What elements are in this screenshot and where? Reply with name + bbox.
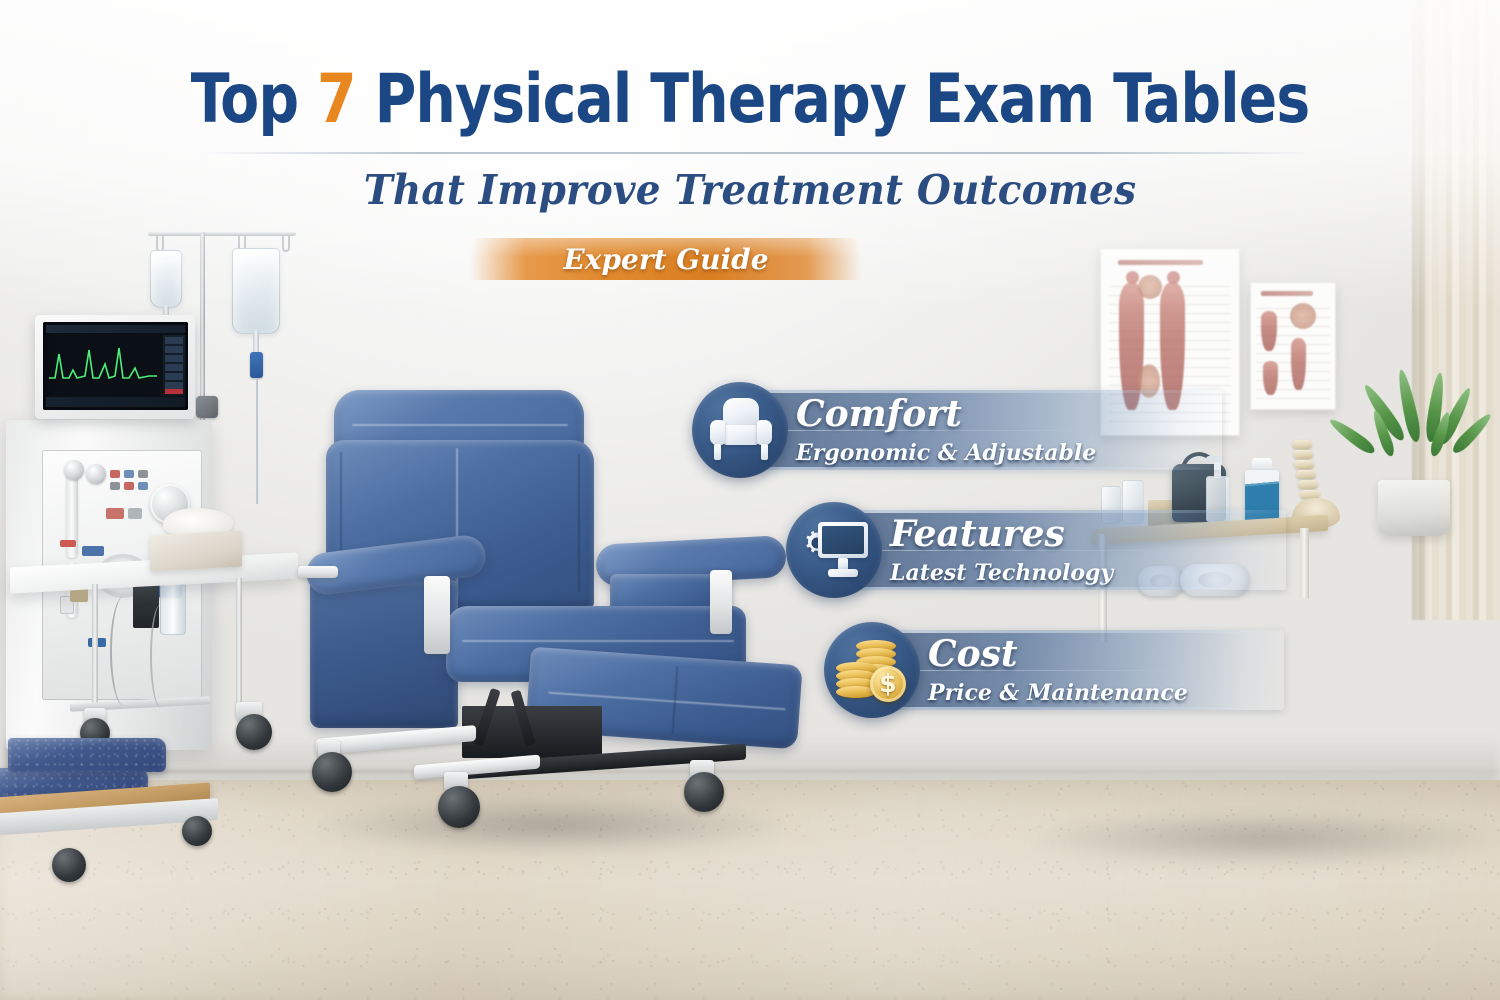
vertebra xyxy=(1294,460,1314,469)
dollar-sign: $ xyxy=(870,668,906,700)
panel-button[interactable] xyxy=(124,470,134,478)
feature-badge-features[interactable]: Features Latest Technology xyxy=(786,502,1346,598)
power-cable xyxy=(110,596,138,706)
armchair-back xyxy=(723,398,759,428)
tissue-box xyxy=(150,531,242,572)
panel-button[interactable] xyxy=(106,508,124,519)
badge-title: Comfort xyxy=(796,396,962,432)
caster-wheel xyxy=(684,772,724,812)
caster-wheel xyxy=(236,714,272,750)
caster-wheel xyxy=(52,848,86,882)
adjust-dial[interactable] xyxy=(64,460,84,480)
chair-arm-frame-right xyxy=(710,570,732,634)
title-prefix: Top xyxy=(191,60,298,139)
expert-guide-label: Expert Guide xyxy=(470,243,862,276)
feature-badge-cost[interactable]: $ Cost Price & Maintenance xyxy=(824,622,1384,718)
vertebra xyxy=(1296,470,1316,479)
caster-wheel xyxy=(438,786,480,828)
folded-blanket xyxy=(8,738,166,772)
panel-button[interactable] xyxy=(124,482,134,490)
panel-button[interactable] xyxy=(128,508,142,519)
caster-wheel xyxy=(312,752,352,792)
vitals-screen[interactable] xyxy=(43,322,188,410)
figure-detail xyxy=(1263,361,1278,395)
panel-button[interactable] xyxy=(138,482,148,490)
headrest-seam xyxy=(352,424,568,426)
coins-dollar-icon: $ xyxy=(836,640,908,702)
panel-button[interactable] xyxy=(110,470,120,478)
backrest-edge-seam xyxy=(578,454,580,592)
monitor-stand xyxy=(828,569,858,577)
caster-wheel xyxy=(182,816,212,846)
armchair-arm-left xyxy=(710,420,725,445)
power-cable xyxy=(150,604,172,708)
adjust-dial[interactable] xyxy=(86,464,106,484)
feature-badge-comfort[interactable]: Comfort Ergonomic & Adjustable xyxy=(692,382,1252,478)
armchair-leg xyxy=(761,444,768,460)
gear-monitor-icon xyxy=(802,520,868,582)
infographic-canvas: Top 7 Physical Therapy Exam Tables That … xyxy=(0,0,1500,1000)
ecg-waveform xyxy=(49,338,157,396)
cart-leg xyxy=(92,584,98,706)
cart-leg xyxy=(236,578,242,706)
armchair-icon xyxy=(710,398,772,462)
vertebra xyxy=(1293,450,1313,459)
badge-title: Cost xyxy=(928,636,1018,672)
badge-subtitle: Price & Maintenance xyxy=(928,682,1188,704)
vertebra xyxy=(1298,480,1318,489)
iv-tubing xyxy=(256,378,258,504)
panel-button[interactable] xyxy=(110,482,120,490)
screen-footer-bar xyxy=(46,397,185,407)
screen-side-panel xyxy=(163,335,185,396)
figure-anterior xyxy=(1261,311,1277,351)
title-rest: Physical Therapy Exam Tables xyxy=(375,60,1310,139)
armchair-arm-right xyxy=(757,420,772,445)
alarm-indicator xyxy=(165,389,183,394)
iv-roller-clamp xyxy=(250,352,263,378)
monitor-display xyxy=(822,526,864,554)
seat-seam xyxy=(462,640,734,642)
iv-drip-chamber xyxy=(253,330,259,354)
badge-subtitle: Ergonomic & Adjustable xyxy=(796,442,1096,464)
chair-release-lever[interactable] xyxy=(298,566,338,578)
armchair-leg xyxy=(714,444,721,460)
title-number: 7 xyxy=(317,60,356,139)
screen-header-bar xyxy=(46,325,185,333)
badge-subtitle: Latest Technology xyxy=(890,562,1113,584)
panel-button[interactable] xyxy=(138,470,148,478)
chair-base-frame xyxy=(316,725,476,755)
page-subtitle: That Improve Treatment Outcomes xyxy=(38,166,1463,214)
indicator-light xyxy=(60,540,76,547)
armchair-seat xyxy=(723,425,759,445)
chair-arm-frame-left xyxy=(424,576,450,654)
title-divider xyxy=(202,152,1312,154)
pole-clip xyxy=(196,396,218,418)
panel-switch[interactable] xyxy=(82,546,104,556)
vertebra xyxy=(1292,440,1312,449)
page-title: Top 7 Physical Therapy Exam Tables xyxy=(53,66,1448,134)
badge-title: Features xyxy=(890,516,1065,552)
